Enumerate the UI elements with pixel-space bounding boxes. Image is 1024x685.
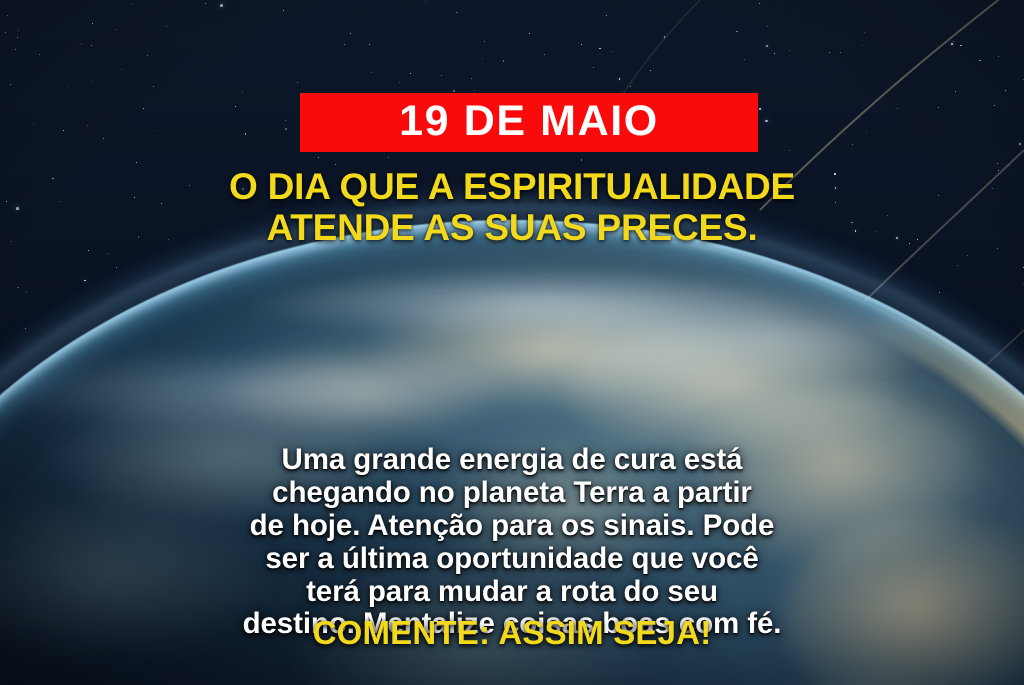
headline: O DIA QUE A ESPIRITUALIDADE ATENDE AS SU… (0, 166, 1024, 249)
poster-content: 19 DE MAIO O DIA QUE A ESPIRITUALIDADE A… (0, 0, 1024, 685)
date-badge: 19 DE MAIO (300, 93, 758, 152)
poster-image: 19 DE MAIO O DIA QUE A ESPIRITUALIDADE A… (0, 0, 1024, 685)
headline-line-2: ATENDE AS SUAS PRECES. (0, 207, 1024, 248)
body-line-1: Uma grande energia de cura está (0, 444, 1024, 477)
body-line-4: ser a última oportunidade que você (0, 543, 1024, 576)
body-copy: Uma grande energia de cura está chegando… (0, 444, 1024, 641)
body-line-2: chegando no planeta Terra a partir (0, 477, 1024, 510)
headline-line-1: O DIA QUE A ESPIRITUALIDADE (0, 166, 1024, 207)
body-line-3: de hoje. Atenção para os sinais. Pode (0, 510, 1024, 543)
body-line-5: terá para mudar a rota do seu (0, 576, 1024, 609)
date-badge-label: 19 DE MAIO (399, 100, 659, 143)
call-to-action: COMENTE: ASSIM SEJA! (0, 615, 1024, 651)
